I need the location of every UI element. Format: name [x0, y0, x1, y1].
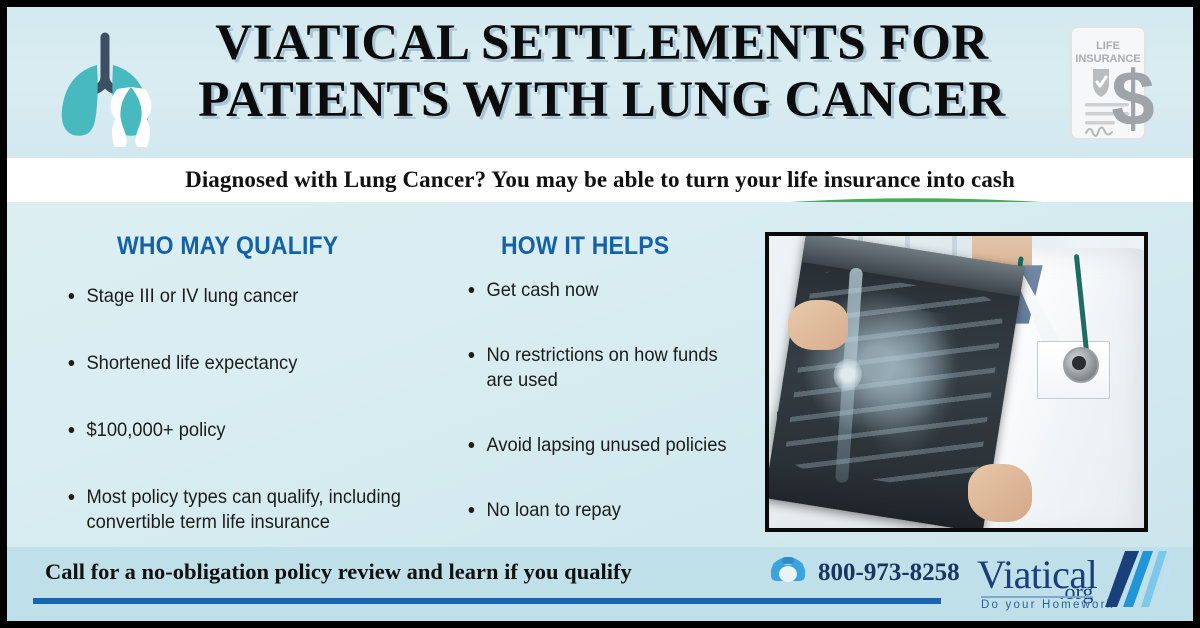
- column-heading-how-it-helps: HOW IT HELPS: [501, 232, 669, 261]
- footer-divider-rule: [33, 598, 941, 604]
- photo-doctor-hand-lower: [968, 464, 1032, 522]
- list-item: Avoid lapsing unused policies: [462, 433, 744, 458]
- viatical-org-logo[interactable]: Viatical .org Do your Homework: [975, 549, 1175, 617]
- phone-block[interactable]: 800-973-8258: [767, 553, 960, 592]
- logo-underline: [981, 596, 1093, 598]
- poster-title: VIATICAL SETTLEMENTS FOR PATIENTS WITH L…: [187, 15, 1017, 129]
- telephone-icon: [767, 553, 809, 592]
- photo-doctor-hand-upper: [788, 300, 848, 350]
- svg-text:LIFE: LIFE: [1096, 40, 1120, 52]
- subtitle-text: Diagnosed with Lung Cancer? You may be a…: [185, 167, 1015, 193]
- lungs-ribbon-icon: [45, 29, 175, 149]
- title-line-2: PATIENTS WITH LUNG CANCER: [187, 72, 1017, 129]
- list-item: $100,000+ policy: [62, 418, 438, 443]
- column-heading-who-may-qualify: WHO MAY QUALIFY: [117, 232, 338, 261]
- doctor-xray-photo: [765, 232, 1148, 532]
- photo-stethoscope-chestpiece: [1063, 347, 1099, 383]
- call-to-action-text: Call for a no-obligation policy review a…: [45, 559, 632, 585]
- footer-band: Call for a no-obligation policy review a…: [7, 547, 1193, 621]
- helps-list: Get cash now No restrictions on how fund…: [462, 278, 762, 563]
- list-item: Stage III or IV lung cancer: [62, 284, 438, 309]
- header-band: VIATICAL SETTLEMENTS FOR PATIENTS WITH L…: [7, 7, 1193, 158]
- phone-number[interactable]: 800-973-8258: [818, 559, 960, 587]
- content-area: WHO MAY QUALIFY Stage III or IV lung can…: [7, 202, 1193, 547]
- logo-slashes-icon: [1091, 549, 1175, 618]
- list-item: No restrictions on how funds are used: [462, 343, 744, 393]
- list-item: No loan to repay: [462, 498, 744, 523]
- title-line-1: VIATICAL SETTLEMENTS FOR: [187, 15, 1017, 72]
- list-item: Most policy types can qualify, including…: [62, 485, 438, 535]
- qualify-list: Stage III or IV lung cancer Shortened li…: [62, 284, 462, 577]
- life-insurance-document-icon: LIFE INSURANCE $: [1053, 21, 1171, 149]
- list-item: Get cash now: [462, 278, 744, 303]
- svg-text:$: $: [1111, 54, 1154, 142]
- list-item: Shortened life expectancy: [62, 351, 438, 376]
- infographic-poster: VIATICAL SETTLEMENTS FOR PATIENTS WITH L…: [0, 0, 1200, 628]
